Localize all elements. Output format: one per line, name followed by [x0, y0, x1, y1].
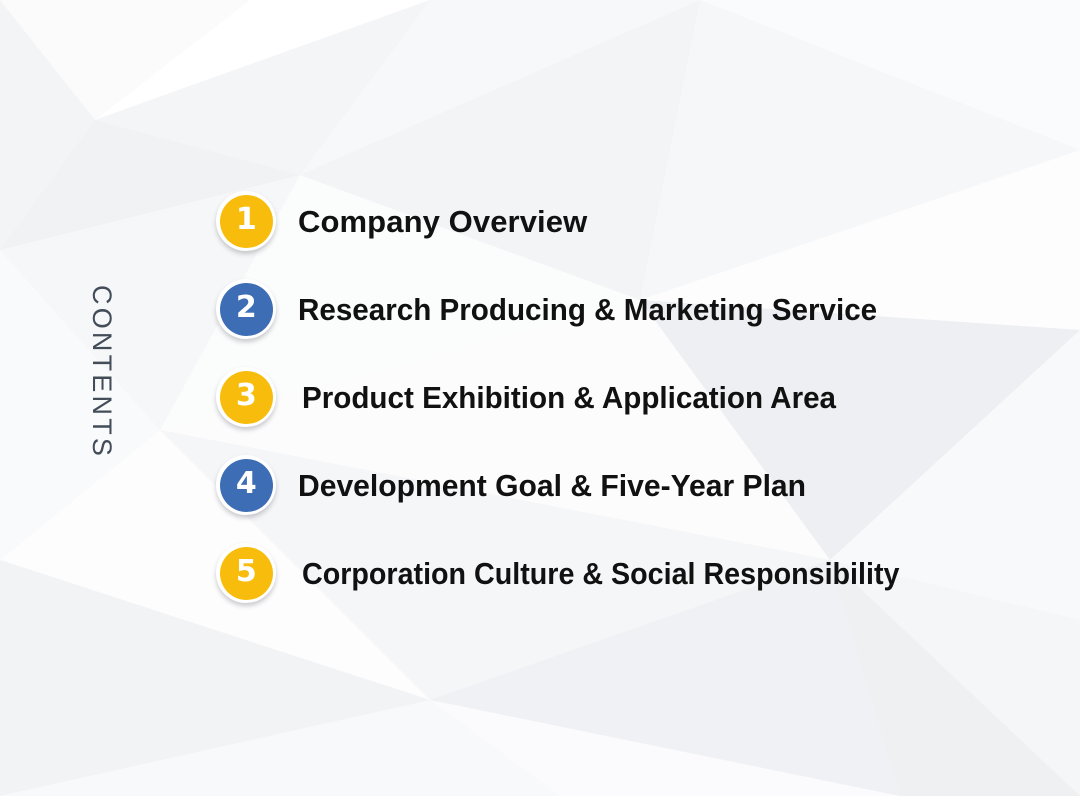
badge-disc: 2 [220, 283, 273, 336]
badge-number: 5 [236, 557, 256, 587]
badge-number: 2 [236, 293, 256, 323]
badge-disc: 5 [220, 547, 273, 600]
list-item-label: Research Producing & Marketing Service [298, 294, 877, 325]
badge-disc: 3 [220, 371, 273, 424]
badge-disc: 4 [220, 459, 273, 512]
number-badge: 5 [216, 543, 276, 603]
list-item-label: Corporation Culture & Social Responsibil… [302, 558, 899, 589]
number-badge: 1 [216, 191, 276, 251]
badge-disc: 1 [220, 195, 273, 248]
list-item-label: Product Exhibition & Application Area [302, 382, 836, 413]
number-badge: 4 [216, 455, 276, 515]
badge-number: 1 [236, 205, 256, 235]
list-item[interactable]: 1 Company Overview [216, 190, 587, 252]
contents-section-label: CONTENTS [84, 285, 120, 465]
list-item[interactable]: 3 Product Exhibition & Application Area [216, 366, 861, 428]
contents-slide: CONTENTS 1 Company Overview 2 Research P… [0, 0, 1080, 796]
list-item-label: Development Goal & Five-Year Plan [298, 470, 806, 501]
list-item[interactable]: 4 Development Goal & Five-Year Plan [216, 454, 822, 516]
list-item-label: Company Overview [298, 206, 587, 237]
badge-number: 4 [236, 469, 256, 499]
list-item[interactable]: 2 Research Producing & Marketing Service [216, 278, 904, 340]
list-item[interactable]: 5 Corporation Culture & Social Responsib… [216, 542, 948, 604]
number-badge: 2 [216, 279, 276, 339]
badge-number: 3 [236, 381, 256, 411]
number-badge: 3 [216, 367, 276, 427]
